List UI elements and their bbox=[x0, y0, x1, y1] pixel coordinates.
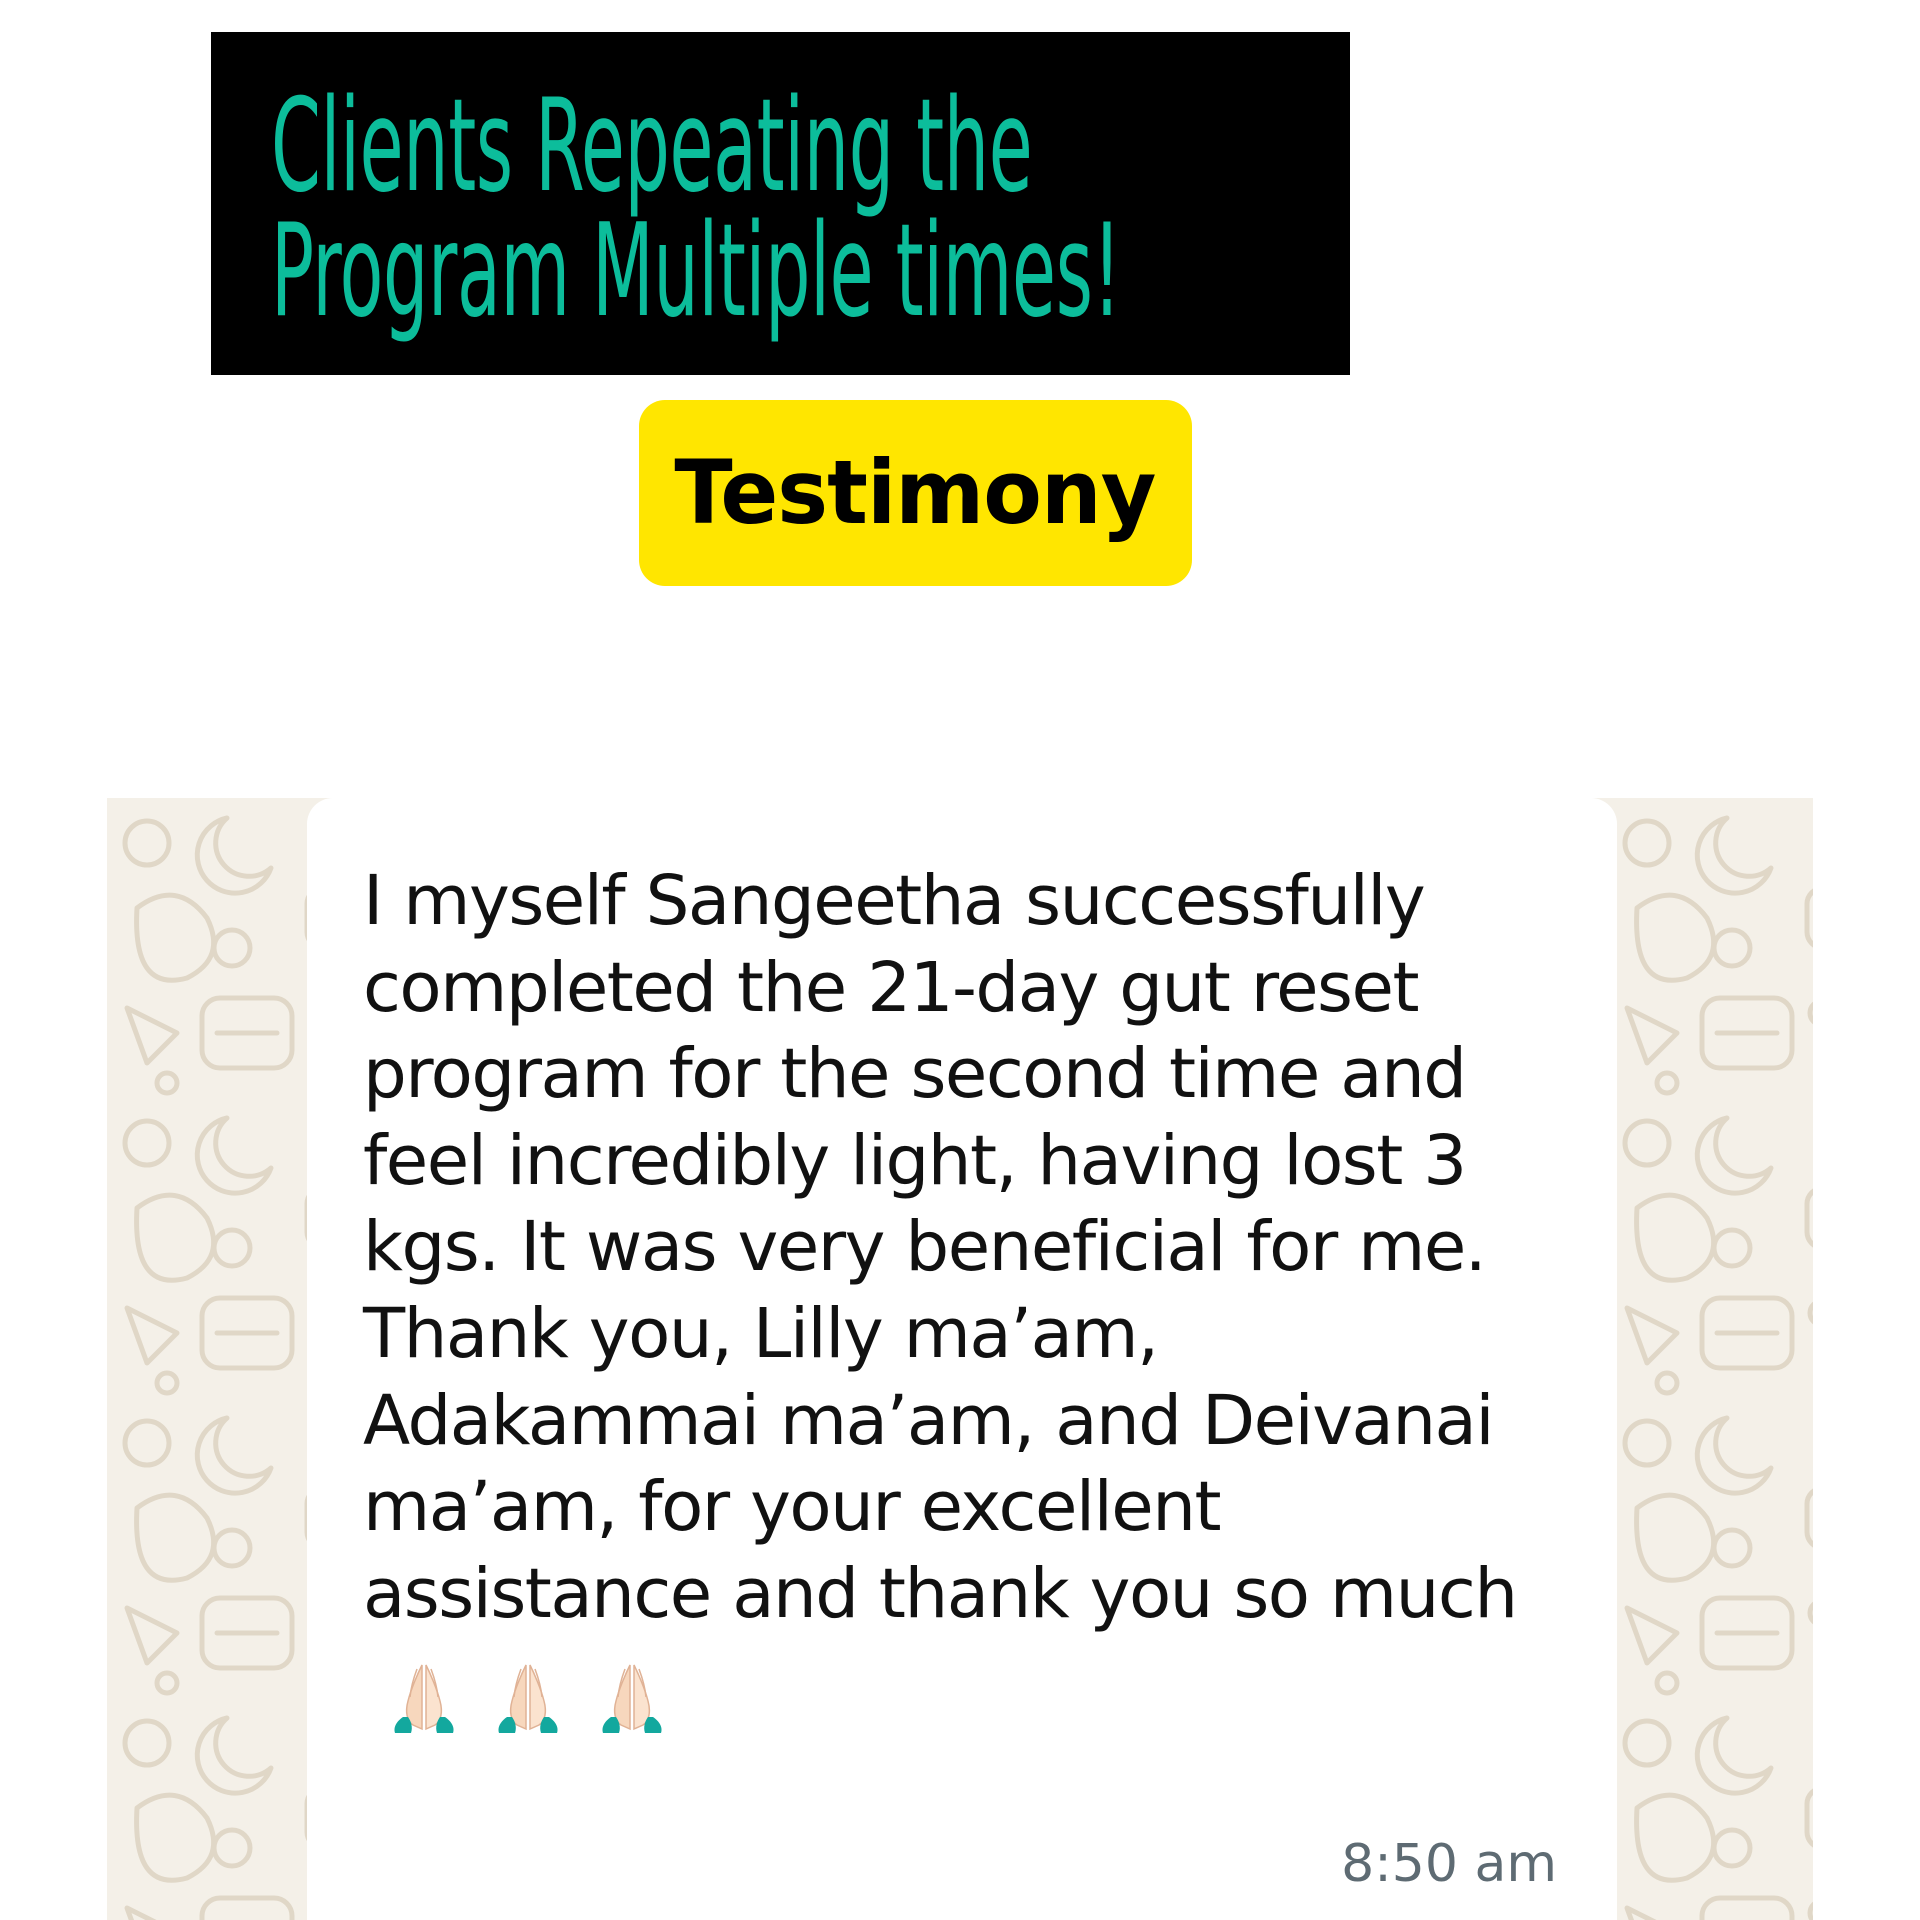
folded-hands-emoji-group bbox=[381, 1655, 693, 1741]
header-banner: Clients Repeating the Program Multiple t… bbox=[211, 32, 1350, 375]
testimonial-message: I myself Sangeetha successfully complete… bbox=[363, 858, 1561, 1741]
chat-message-bubble[interactable]: I myself Sangeetha successfully complete… bbox=[307, 798, 1617, 1920]
testimony-badge-container: Testimony bbox=[0, 400, 1920, 590]
status-badge: Testimony bbox=[639, 400, 1192, 586]
folded-hands-icon bbox=[381, 1655, 467, 1741]
message-timestamp: 8:50 am bbox=[1341, 1834, 1557, 1894]
folded-hands-icon bbox=[589, 1655, 675, 1741]
folded-hands-icon bbox=[485, 1655, 571, 1741]
testimonial-message-text: I myself Sangeetha successfully complete… bbox=[363, 861, 1517, 1634]
chat-screenshot: I myself Sangeetha successfully complete… bbox=[107, 798, 1813, 1920]
testimony-badge-label: Testimony bbox=[675, 449, 1156, 537]
page-title: Clients Repeating the Program Multiple t… bbox=[271, 84, 1288, 335]
